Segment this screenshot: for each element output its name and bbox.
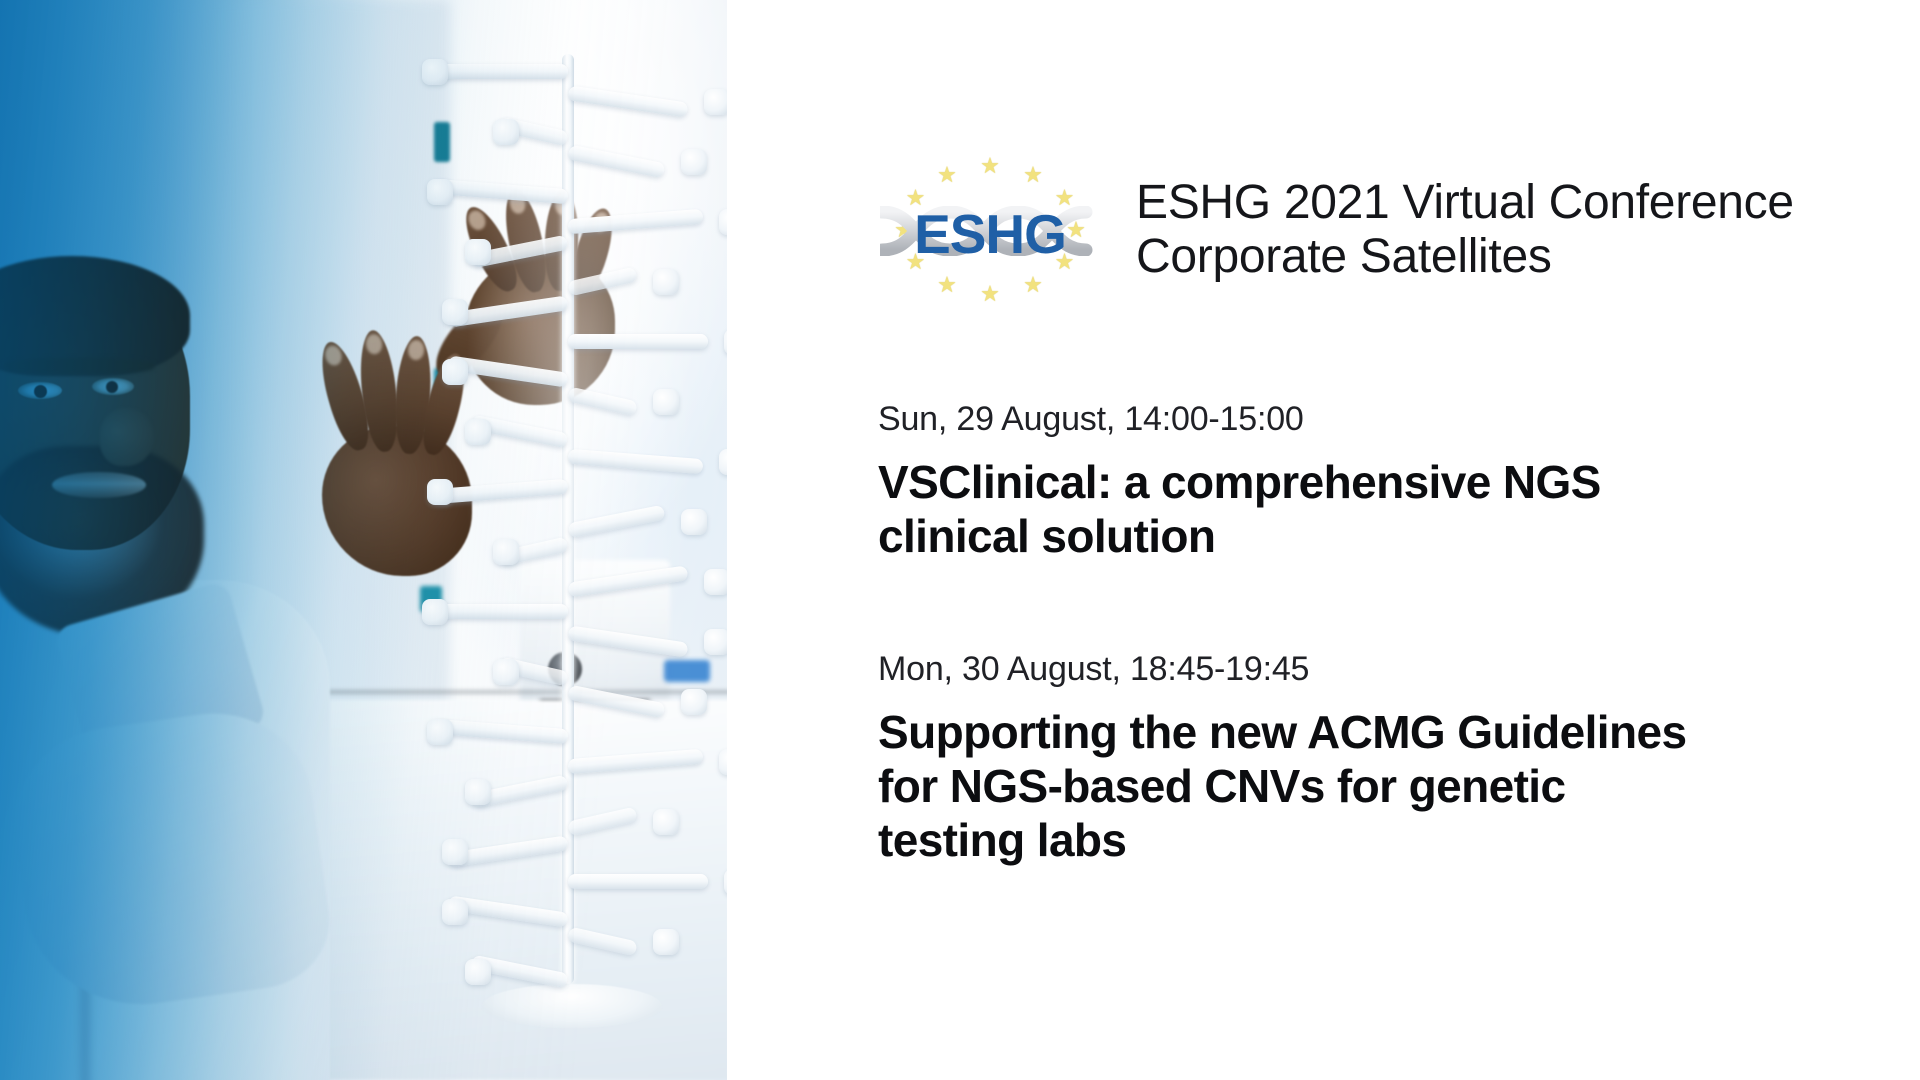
star-icon: ★ [1022, 274, 1044, 296]
event-title: Supporting the new ACMG Guidelines for N… [878, 705, 1838, 868]
conference-header: ★★★★★★★★★★★★ ESHG E [878, 150, 1794, 310]
star-icon: ★ [979, 155, 1001, 177]
eshg-logo: ★★★★★★★★★★★★ ESHG [878, 150, 1102, 310]
satellite-event[interactable]: Sun, 29 August, 14:00-15:00 VSClinical: … [878, 400, 1838, 564]
event-datetime: Mon, 30 August, 18:45-19:45 [878, 650, 1838, 689]
satellite-events-list: Sun, 29 August, 14:00-15:00 VSClinical: … [878, 400, 1838, 867]
content-panel: ★★★★★★★★★★★★ ESHG E [727, 0, 1920, 1080]
event-datetime: Sun, 29 August, 14:00-15:00 [878, 400, 1838, 439]
star-icon: ★ [936, 164, 958, 186]
conference-promo-slide: ★★★★★★★★★★★★ ESHG E [0, 0, 1920, 1080]
event-title: VSClinical: a comprehensive NGS clinical… [878, 455, 1838, 564]
conference-title: ESHG 2021 Virtual Conference Corporate S… [1136, 176, 1794, 284]
photo-blue-overlay-secondary [0, 0, 727, 1080]
star-icon: ★ [936, 274, 958, 296]
star-icon: ★ [979, 283, 1001, 305]
eshg-wordmark: ESHG [878, 202, 1102, 266]
star-icon: ★ [1022, 164, 1044, 186]
satellite-event[interactable]: Mon, 30 August, 18:45-19:45 Supporting t… [878, 650, 1838, 868]
hero-photo-panel [0, 0, 727, 1080]
